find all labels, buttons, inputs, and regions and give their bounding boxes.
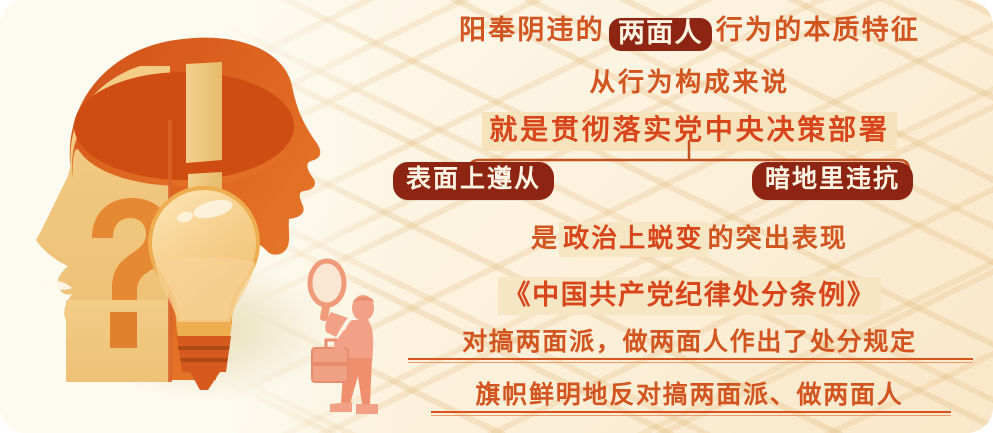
headline-prefix: 阳奉阴违的 [459, 15, 605, 45]
headline-line-7: 旗帜鲜明地反对搞两面派、做两面人 [386, 375, 993, 411]
badge-secret-defiance: 暗地里违抗 [752, 162, 913, 200]
headline-line-1: 阳奉阴违的两面人行为的本质特征 [386, 8, 993, 51]
briefcase-strap [312, 362, 348, 366]
lightbulb-screw [177, 336, 231, 372]
headline-line-4: 是政治上蜕变的突出表现 [386, 218, 993, 255]
figure-shoe-right [356, 404, 378, 414]
exclamation-bar [186, 62, 222, 163]
headline-suffix: 行为的本质特征 [716, 15, 920, 45]
pill-two-faced-person: 两面人 [609, 18, 712, 51]
poster-root: 阳奉阴违的两面人行为的本质特征 从行为构成来说 就是贯彻落实党中央决策部署 表面… [0, 0, 993, 433]
badge-surface-compliance: 表面上遵从 [393, 162, 554, 200]
underline-line-7 [431, 411, 951, 416]
headline-line-5: 《中国共产党纪律处分条例》 [386, 273, 993, 312]
screw-thread-2 [180, 358, 228, 362]
line4-suffix: 的突出表现 [708, 224, 848, 253]
question-mark-dot [110, 312, 137, 348]
lightbulb-base [176, 322, 232, 338]
headline-line-6: 对搞两面派，做两面人作出了处分规定 [386, 322, 993, 358]
text-column: 阳奉阴违的两面人行为的本质特征 从行为构成来说 就是贯彻落实党中央决策部署 表面… [386, 0, 993, 433]
highlight-political-degeneration: 政治上蜕变 [559, 222, 707, 257]
highlight-regulation-title: 《中国共产党纪律处分条例》 [498, 277, 880, 315]
magnifier-lens [310, 261, 344, 305]
head-hollow-inner [74, 72, 294, 180]
illustration-two-faced-head [0, 0, 400, 433]
headline-line-2: 从行为构成来说 [386, 62, 993, 99]
screw-thread-1 [178, 346, 230, 350]
figure-shoe-left [330, 402, 352, 412]
underline-line-6 [408, 358, 973, 363]
line4-prefix: 是 [531, 224, 559, 253]
